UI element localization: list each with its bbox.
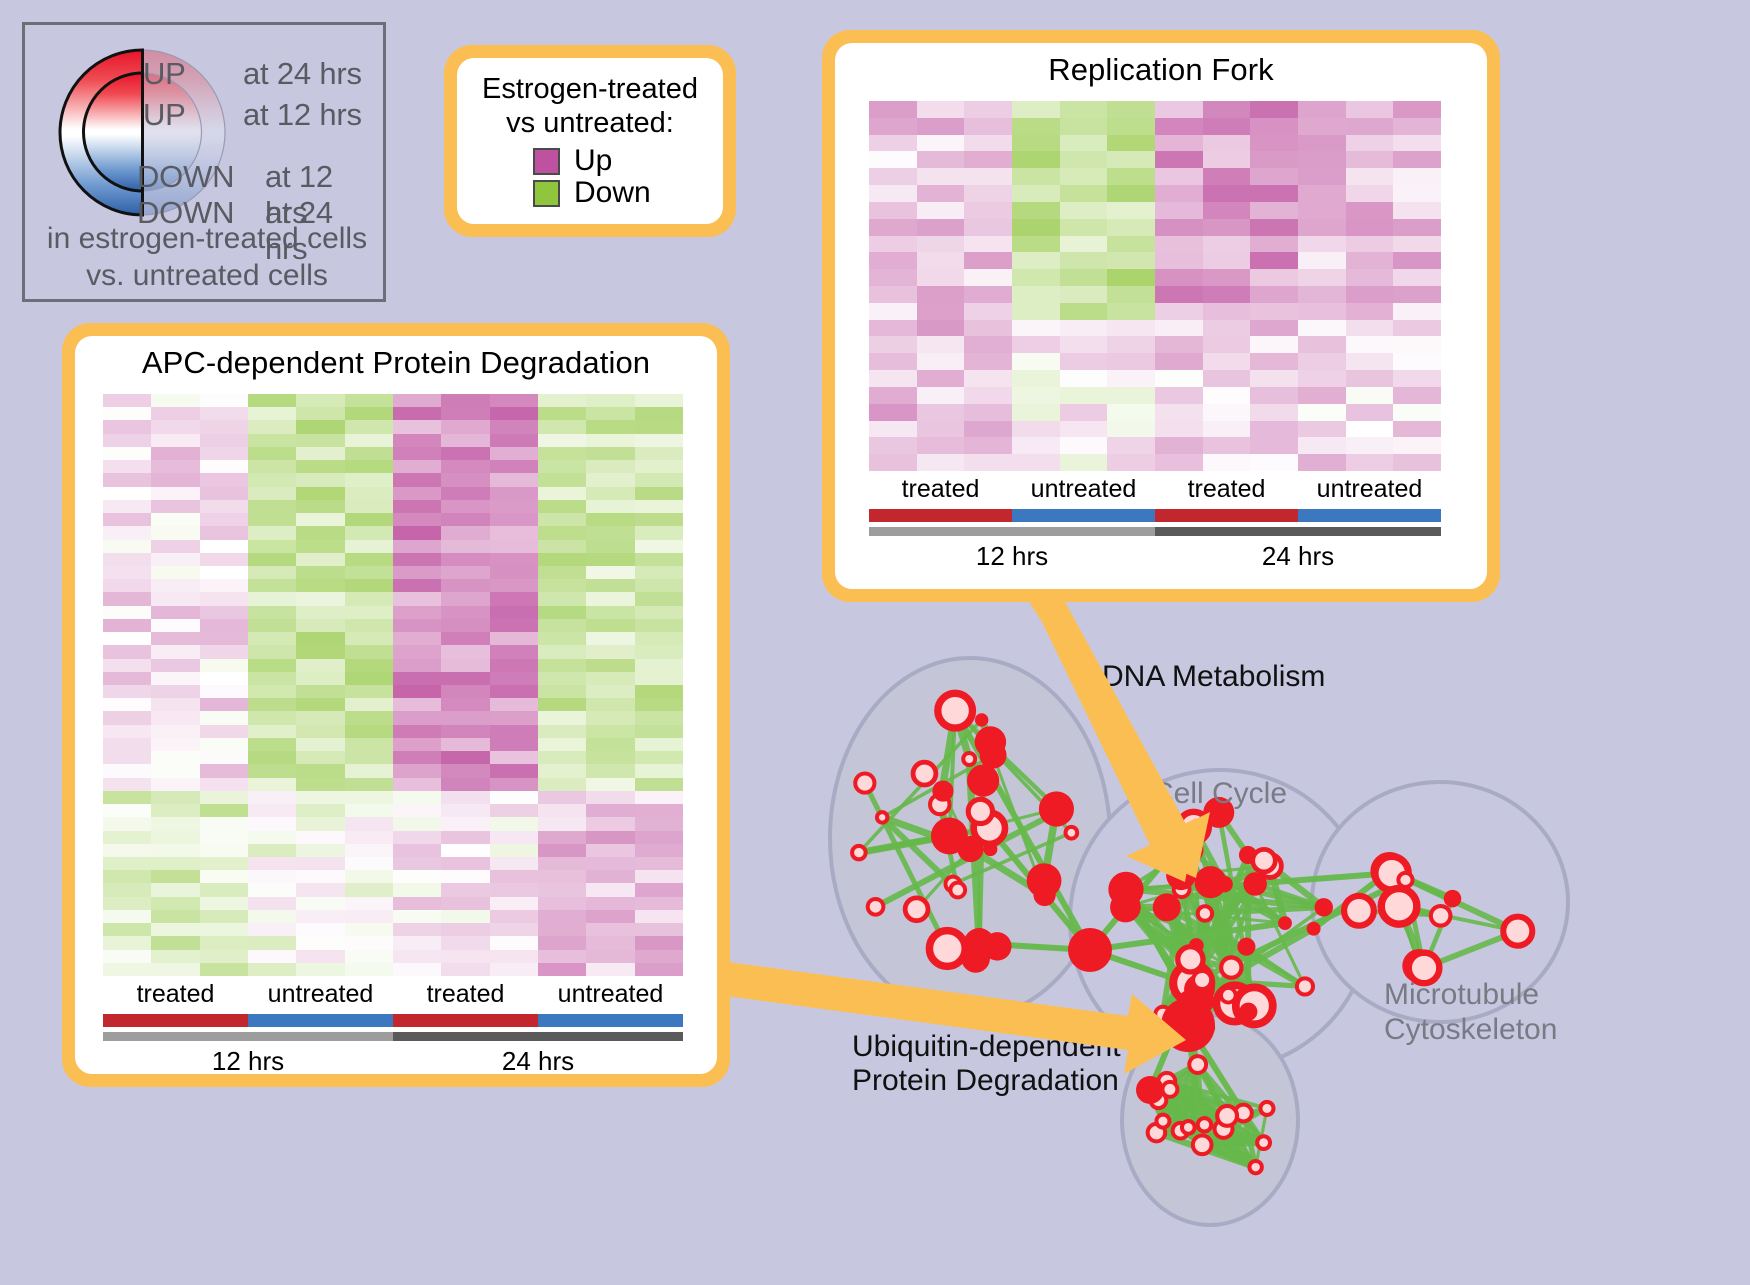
heatmap-cell <box>103 698 151 711</box>
heatmap-cell <box>248 844 296 857</box>
heatmap-cell <box>151 936 199 949</box>
network-node <box>1166 860 1196 890</box>
heatmap-cell <box>635 857 683 870</box>
heatmap-cell <box>917 421 965 438</box>
heatmap-cell <box>538 592 586 605</box>
network-node-ring <box>950 883 965 898</box>
heatmap-cell <box>200 460 248 473</box>
heatmap-cell <box>103 963 151 976</box>
ring-label-down-12: DOWN <box>137 159 234 195</box>
heatmap-cell <box>200 619 248 632</box>
heatmap-cell <box>248 566 296 579</box>
heatmap-cell <box>441 632 489 645</box>
heatmap-cell <box>151 831 199 844</box>
heatmap-cell <box>200 831 248 844</box>
heatmap-cell <box>586 804 634 817</box>
heatmap-cell <box>441 831 489 844</box>
heatmap-cell <box>296 963 344 976</box>
ring-legend-box: UP at 24 hrs UP at 12 hrs DOWN at 12 hrs… <box>22 22 386 302</box>
heatmap-cell <box>1250 168 1298 185</box>
heatmap-cell <box>345 923 393 936</box>
heatmap-cell <box>393 447 441 460</box>
heatmap-cell <box>1298 404 1346 421</box>
network-node-ring <box>1221 988 1236 1003</box>
heatmap-cell <box>248 632 296 645</box>
heatmap-cell <box>393 804 441 817</box>
heatmap-cell <box>538 473 586 486</box>
heatmap-cell <box>200 645 248 658</box>
heatmap-cell <box>345 566 393 579</box>
heatmap-cell <box>1203 101 1251 118</box>
heatmap-cell <box>490 844 538 857</box>
heatmap-cell <box>1060 286 1108 303</box>
heatmap-cell <box>441 619 489 632</box>
heatmap-cell <box>248 804 296 817</box>
heatmap-cell <box>1250 101 1298 118</box>
heatmap-cell <box>538 460 586 473</box>
heatmap-cell <box>296 844 344 857</box>
heatmap-cell <box>1298 252 1346 269</box>
heatmap-cell <box>393 725 441 738</box>
heatmap-cell <box>869 387 917 404</box>
heatmap-cell <box>200 632 248 645</box>
heatmap-cell <box>586 606 634 619</box>
heatmap-cell <box>869 370 917 387</box>
up-swatch-icon <box>533 148 560 175</box>
heatmap-cell <box>1203 168 1251 185</box>
heatmap-cell <box>538 685 586 698</box>
heatmap-cell <box>869 353 917 370</box>
heatmap-cell <box>248 897 296 910</box>
heatmap-cell <box>1107 135 1155 152</box>
heatmap-cell <box>1346 219 1394 236</box>
time-label-12: 12 hrs <box>869 538 1155 572</box>
heatmap-cell <box>635 910 683 923</box>
heatmap-cell <box>917 437 965 454</box>
heatmap-cell <box>103 923 151 936</box>
heatmap-cell <box>635 923 683 936</box>
heatmap-cell <box>1060 303 1108 320</box>
heatmap-cell <box>248 923 296 936</box>
heatmap-cell <box>1298 135 1346 152</box>
heatmap-cell <box>1203 151 1251 168</box>
heatmap-cell <box>248 711 296 724</box>
heatmap-cell <box>635 725 683 738</box>
heatmap-cell <box>538 540 586 553</box>
heatmap-cell <box>490 394 538 407</box>
heatmap-cell <box>490 592 538 605</box>
heatmap-cell <box>586 672 634 685</box>
heatmap-cell <box>151 632 199 645</box>
heatmap-cell <box>490 950 538 963</box>
heatmap-cell <box>869 454 917 471</box>
heatmap-cell <box>964 454 1012 471</box>
heatmap-cell <box>345 685 393 698</box>
heatmap-cell <box>296 725 344 738</box>
heatmap-cell <box>1012 185 1060 202</box>
apc-band-treated-12 <box>103 1014 248 1027</box>
heatmap-cell <box>151 963 199 976</box>
apc-band-untreated-12 <box>248 1014 393 1027</box>
heatmap-cell <box>441 725 489 738</box>
heatmap-cell <box>635 513 683 526</box>
heatmap-cell <box>1203 303 1251 320</box>
heatmap-cell <box>586 579 634 592</box>
heatmap-cell <box>1250 236 1298 253</box>
heatmap-cell <box>345 791 393 804</box>
heatmap-cell <box>1012 421 1060 438</box>
heatmap-cell <box>296 407 344 420</box>
key-label-down: Down <box>574 178 651 208</box>
heatmap-cell <box>200 513 248 526</box>
heatmap-cell <box>586 394 634 407</box>
heatmap-cell <box>635 685 683 698</box>
heatmap-cell <box>586 725 634 738</box>
heatmap-cell <box>538 936 586 949</box>
network-node-ring <box>1260 1102 1273 1115</box>
heatmap-cell <box>1298 353 1346 370</box>
heatmap-cell <box>1203 336 1251 353</box>
heatmap-cell <box>1203 118 1251 135</box>
heatmap-cell <box>103 579 151 592</box>
heatmap-cell <box>490 407 538 420</box>
heatmap-cell <box>248 553 296 566</box>
heatmap-cell <box>1155 454 1203 471</box>
heatmap-cell <box>296 923 344 936</box>
heatmap-cell <box>1012 118 1060 135</box>
heatmap-cell <box>635 778 683 791</box>
heatmap-cell <box>103 540 151 553</box>
heatmap-cell <box>441 698 489 711</box>
heatmap-cell <box>538 407 586 420</box>
heatmap-cell <box>200 540 248 553</box>
heatmap-cell <box>490 791 538 804</box>
heatmap-cell <box>103 659 151 672</box>
heatmap-cell <box>1155 387 1203 404</box>
heatmap-cell <box>296 632 344 645</box>
heatmap-cell <box>151 487 199 500</box>
network-node-ring <box>963 753 975 765</box>
cluster-label-ubiquitin-degradation: Ubiquitin-dependent Protein Degradation <box>852 1030 1121 1098</box>
heatmap-cell <box>441 487 489 500</box>
network-node-ring <box>1221 957 1241 977</box>
heatmap-cell <box>586 910 634 923</box>
apc-column-labels: treated untreated treated untreated <box>103 980 683 1009</box>
heatmap-cell <box>490 632 538 645</box>
heatmap-cell <box>296 619 344 632</box>
heatmap-cell <box>1298 286 1346 303</box>
heatmap-cell <box>538 487 586 500</box>
heatmap-cell <box>151 606 199 619</box>
heatmap-cell <box>296 592 344 605</box>
heatmap-cell <box>1060 437 1108 454</box>
heatmap-cell <box>1298 421 1346 438</box>
heatmap-cell <box>1298 219 1346 236</box>
heatmap-cell <box>1107 202 1155 219</box>
heatmap-cell <box>1298 370 1346 387</box>
heatmap-cell <box>1107 336 1155 353</box>
heatmap-cell <box>1393 269 1441 286</box>
heatmap-cell <box>586 434 634 447</box>
heatmap-cell <box>490 420 538 433</box>
heatmap-cell <box>393 407 441 420</box>
heatmap-cell <box>1393 236 1441 253</box>
heatmap-cell <box>1155 185 1203 202</box>
heatmap-cell <box>151 447 199 460</box>
heatmap-cell <box>296 764 344 777</box>
network-node-ring <box>868 899 884 915</box>
heatmap-cell <box>538 791 586 804</box>
heatmap-cell <box>964 353 1012 370</box>
heatmap-cell <box>441 500 489 513</box>
heatmap-cell <box>296 870 344 883</box>
heatmap-cell <box>103 553 151 566</box>
heatmap-cell <box>200 923 248 936</box>
heatmap-cell <box>345 645 393 658</box>
replication-fork-panel: Replication Fork treated untreated treat… <box>822 30 1500 602</box>
heatmap-cell <box>635 791 683 804</box>
heatmap-cell <box>1346 202 1394 219</box>
heatmap-cell <box>345 460 393 473</box>
heatmap-cell <box>200 685 248 698</box>
heatmap-cell <box>538 857 586 870</box>
heatmap-cell <box>345 778 393 791</box>
heatmap-cell <box>151 910 199 923</box>
apc-panel: APC-dependent Protein Degradation treate… <box>62 323 730 1087</box>
heatmap-cell <box>1060 320 1108 337</box>
heatmap-cell <box>393 566 441 579</box>
heatmap-cell <box>345 817 393 830</box>
heatmap-cell <box>490 487 538 500</box>
heatmap-cell <box>441 804 489 817</box>
heatmap-cell <box>1107 370 1155 387</box>
heatmap-cell <box>151 540 199 553</box>
heatmap-cell <box>345 606 393 619</box>
network-node <box>1033 884 1055 906</box>
heatmap-cell <box>586 632 634 645</box>
heatmap-cell <box>1107 219 1155 236</box>
heatmap-cell <box>200 473 248 486</box>
network-node <box>1239 1003 1257 1021</box>
heatmap-cell <box>586 473 634 486</box>
heatmap-cell <box>441 857 489 870</box>
column-label-treated-24: treated <box>1155 475 1298 504</box>
heatmap-cell <box>103 592 151 605</box>
network-node <box>1314 898 1332 916</box>
heatmap-cell <box>103 645 151 658</box>
heatmap-cell <box>1203 370 1251 387</box>
heatmap-cell <box>917 320 965 337</box>
heatmap-cell <box>345 487 393 500</box>
heatmap-cell <box>441 460 489 473</box>
network-node-ring <box>913 762 936 785</box>
heatmap-cell <box>151 883 199 896</box>
heatmap-cell <box>869 437 917 454</box>
heatmap-cell <box>1107 151 1155 168</box>
heatmap-cell <box>964 370 1012 387</box>
heatmap-cell <box>1060 336 1108 353</box>
heatmap-cell <box>635 566 683 579</box>
heatmap-cell <box>964 286 1012 303</box>
heatmap-cell <box>490 870 538 883</box>
heatmap-cell <box>490 434 538 447</box>
network-node <box>1307 922 1321 936</box>
heatmap-cell <box>151 579 199 592</box>
heatmap-cell <box>103 817 151 830</box>
heatmap-cell <box>151 553 199 566</box>
heatmap-cell <box>1393 336 1441 353</box>
network-node-ring <box>1249 1161 1261 1173</box>
heatmap-cell <box>1155 118 1203 135</box>
heatmap-cell <box>1012 269 1060 286</box>
heatmap-cell <box>1060 370 1108 387</box>
network-node-ring <box>1193 971 1211 989</box>
heatmap-cell <box>200 500 248 513</box>
heatmap-cell <box>1346 252 1394 269</box>
heatmap-cell <box>635 540 683 553</box>
heatmap-cell <box>200 592 248 605</box>
heatmap-cell <box>345 407 393 420</box>
heatmap-cell <box>1250 118 1298 135</box>
heatmap-cell <box>345 831 393 844</box>
heatmap-cell <box>393 870 441 883</box>
heatmap-cell <box>490 540 538 553</box>
heatmap-cell <box>151 804 199 817</box>
heatmap-cell <box>635 672 683 685</box>
heatmap-cell <box>441 738 489 751</box>
heatmap-cell <box>538 897 586 910</box>
microtubule-line1: Microtubule <box>1384 978 1557 1013</box>
heatmap-cell <box>103 420 151 433</box>
heatmap-cell <box>586 831 634 844</box>
heatmap-cell <box>635 553 683 566</box>
heatmap-cell <box>964 387 1012 404</box>
heatmap-cell <box>296 579 344 592</box>
network-node <box>1136 1076 1164 1104</box>
heatmap-cell <box>1393 387 1441 404</box>
heatmap-cell <box>296 711 344 724</box>
heatmap-cell <box>586 407 634 420</box>
heatmap-cell <box>393 606 441 619</box>
heatmap-cell <box>917 387 965 404</box>
heatmap-cell <box>200 579 248 592</box>
heatmap-cell <box>1346 353 1394 370</box>
heatmap-cell <box>964 118 1012 135</box>
heatmap-cell <box>296 500 344 513</box>
apc-title: APC-dependent Protein Degradation <box>75 336 717 381</box>
heatmap-cell <box>441 553 489 566</box>
heatmap-cell <box>964 185 1012 202</box>
band-treated-12 <box>869 509 1012 522</box>
heatmap-cell <box>393 738 441 751</box>
heatmap-cell <box>1012 202 1060 219</box>
network-node-ring <box>1217 1106 1237 1126</box>
heatmap-cell <box>248 778 296 791</box>
heatmap-cell <box>248 659 296 672</box>
heatmap-cell <box>200 738 248 751</box>
heatmap-cell <box>393 751 441 764</box>
heatmap-cell <box>869 202 917 219</box>
heatmap-cell <box>345 910 393 923</box>
heatmap-cell <box>1060 202 1108 219</box>
heatmap-cell <box>151 751 199 764</box>
heatmap-cell <box>869 135 917 152</box>
heatmap-cell <box>1298 336 1346 353</box>
heatmap-cell <box>1393 437 1441 454</box>
key-row-down: Down <box>533 178 723 208</box>
heatmap-cell <box>1107 454 1155 471</box>
heatmap-cell <box>200 751 248 764</box>
heatmap-cell <box>441 923 489 936</box>
heatmap-cell <box>393 460 441 473</box>
heatmap-cell <box>296 817 344 830</box>
heatmap-cell <box>393 698 441 711</box>
heatmap-cell <box>538 645 586 658</box>
heatmap-cell <box>1393 151 1441 168</box>
heatmap-cell <box>248 817 296 830</box>
heatmap-cell <box>248 698 296 711</box>
heatmap-cell <box>393 857 441 870</box>
heatmap-cell <box>441 950 489 963</box>
heatmap-cell <box>635 447 683 460</box>
heatmap-cell <box>151 566 199 579</box>
network-node-ring <box>1253 849 1276 872</box>
key-rows: Up Down <box>457 146 723 208</box>
heatmap-cell <box>200 725 248 738</box>
heatmap-cell <box>296 672 344 685</box>
heatmap-cell <box>635 619 683 632</box>
heatmap-cell <box>490 698 538 711</box>
heatmap-cell <box>393 910 441 923</box>
heatmap-cell <box>441 540 489 553</box>
heatmap-cell <box>586 923 634 936</box>
heatmap-cell <box>345 711 393 724</box>
heatmap-cell <box>538 394 586 407</box>
network-node <box>1161 998 1215 1052</box>
heatmap-cell <box>248 513 296 526</box>
heatmap-cell <box>151 711 199 724</box>
heatmap-cell <box>635 579 683 592</box>
heatmap-cell <box>151 870 199 883</box>
heatmap-cell <box>869 151 917 168</box>
network-node-ring <box>1198 1118 1211 1131</box>
heatmap-cell <box>248 857 296 870</box>
heatmap-cell <box>1155 437 1203 454</box>
heatmap-cell <box>1250 135 1298 152</box>
heatmap-cell <box>200 420 248 433</box>
heatmap-cell <box>1155 236 1203 253</box>
heatmap-cell <box>296 434 344 447</box>
heatmap-cell <box>1060 353 1108 370</box>
heatmap-cell <box>296 460 344 473</box>
heatmap-cell <box>490 645 538 658</box>
heatmap-cell <box>1346 101 1394 118</box>
heatmap-cell <box>441 592 489 605</box>
heatmap-cell <box>1060 387 1108 404</box>
heatmap-cell <box>1393 286 1441 303</box>
apc-column-label-treated-12: treated <box>103 980 248 1009</box>
ring-label-up-24: UP <box>143 56 186 92</box>
heatmap-cell <box>538 553 586 566</box>
heatmap-cell <box>586 950 634 963</box>
heatmap-cell <box>538 698 586 711</box>
microtubule-line2: Cytoskeleton <box>1384 1013 1557 1048</box>
heatmap-cell <box>635 500 683 513</box>
heatmap-cell <box>490 566 538 579</box>
heatmap-cell <box>1298 437 1346 454</box>
heatmap-cell <box>393 645 441 658</box>
heatmap-cell <box>1012 101 1060 118</box>
